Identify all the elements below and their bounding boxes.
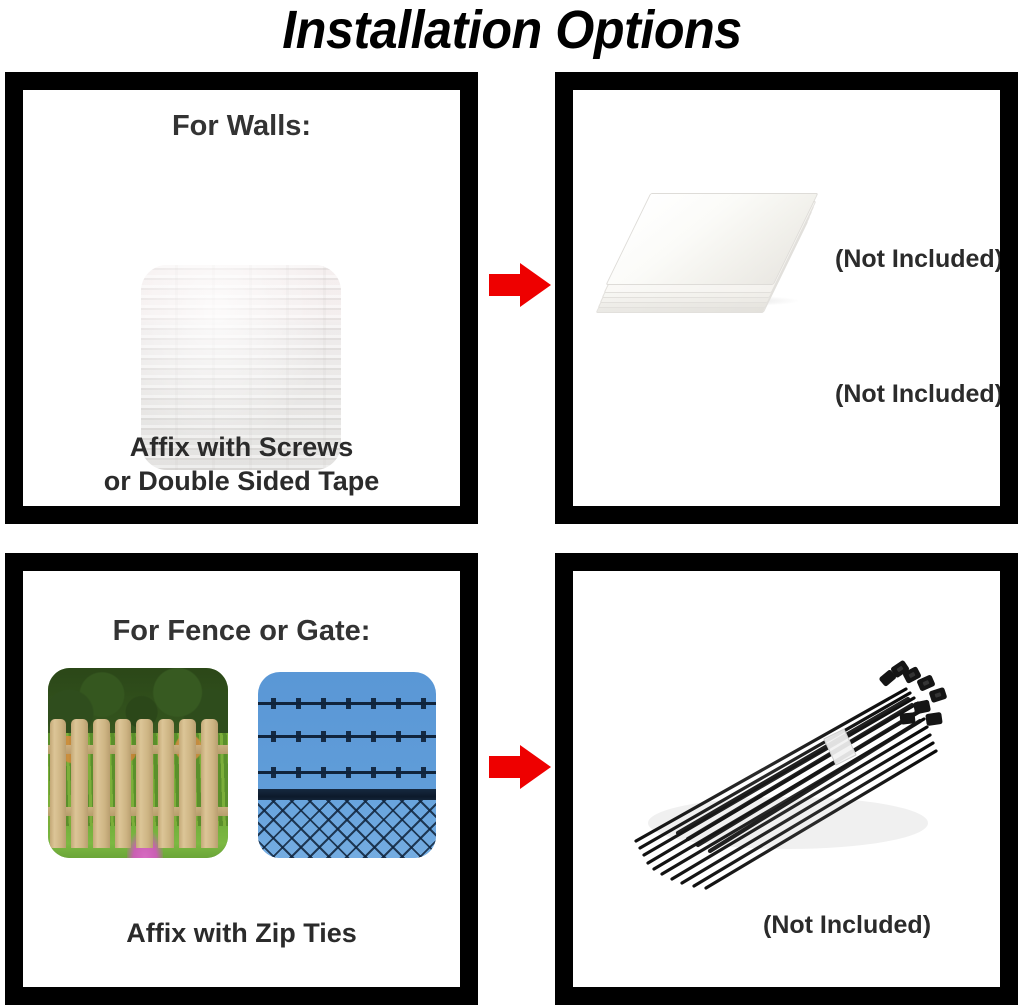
arrow-shaft: [489, 274, 523, 296]
page-title: Installation Options: [36, 0, 988, 62]
arrow-right-icon-top: [489, 263, 551, 307]
arrow-head: [520, 263, 551, 307]
chain-link-barbed-wire-photo: [258, 672, 436, 858]
picket: [136, 719, 153, 848]
picket: [158, 719, 175, 848]
chain-link-mesh: [258, 800, 436, 858]
barbed-wire-strand: [258, 771, 436, 774]
picket: [71, 719, 88, 848]
panel-for-fence-or-gate: For Fence or Gate:: [5, 553, 478, 1005]
panel-wall-hardware-inner: (Not Included): [573, 90, 1000, 506]
screws-not-included-label: (Not Included): [835, 380, 1000, 409]
for-walls-caption: Affix with Screws or Double Sided Tape: [23, 430, 460, 498]
panel-for-walls-inner: For Walls: Affix with Screws or Double S…: [23, 90, 460, 506]
arrow-head: [520, 745, 551, 789]
tape-layer-top: [606, 193, 819, 285]
for-walls-heading: For Walls:: [23, 110, 460, 143]
panel-for-fence-inner: For Fence or Gate:: [23, 571, 460, 987]
for-fence-heading: For Fence or Gate:: [23, 615, 460, 648]
picket: [179, 719, 196, 848]
barbed-wire-strand: [258, 702, 436, 705]
for-fence-caption-line-1: Affix with Zip Ties: [23, 916, 460, 950]
picket: [115, 719, 132, 848]
picket-boards: [48, 719, 228, 848]
barbed-wire-strand: [258, 735, 436, 738]
arrow-shaft: [489, 756, 523, 778]
for-walls-caption-line-2: or Double Sided Tape: [23, 464, 460, 498]
panel-wall-hardware: (Not Included): [555, 72, 1018, 524]
picket: [201, 719, 218, 848]
for-fence-caption: Affix with Zip Ties: [23, 916, 460, 950]
wooden-picket-fence-photo: [48, 668, 228, 858]
picket: [50, 719, 67, 848]
arrow-right-icon-bottom: [489, 745, 551, 789]
panel-fence-hardware: (Not Included): [555, 553, 1018, 1005]
panel-for-walls: For Walls: Affix with Screws or Double S…: [5, 72, 478, 524]
installation-options-infographic: Installation Options For Walls: Affix wi…: [0, 0, 1024, 1008]
tape-not-included-label: (Not Included): [835, 245, 1000, 274]
picket: [93, 719, 110, 848]
double-sided-tape-stack-image: [618, 183, 818, 308]
panel-fence-hardware-inner: (Not Included): [573, 571, 1000, 987]
black-zip-ties-bundle-image: [618, 643, 948, 893]
for-walls-caption-line-1: Affix with Screws: [23, 430, 460, 464]
zip-ties-not-included-label: (Not Included): [763, 911, 931, 940]
